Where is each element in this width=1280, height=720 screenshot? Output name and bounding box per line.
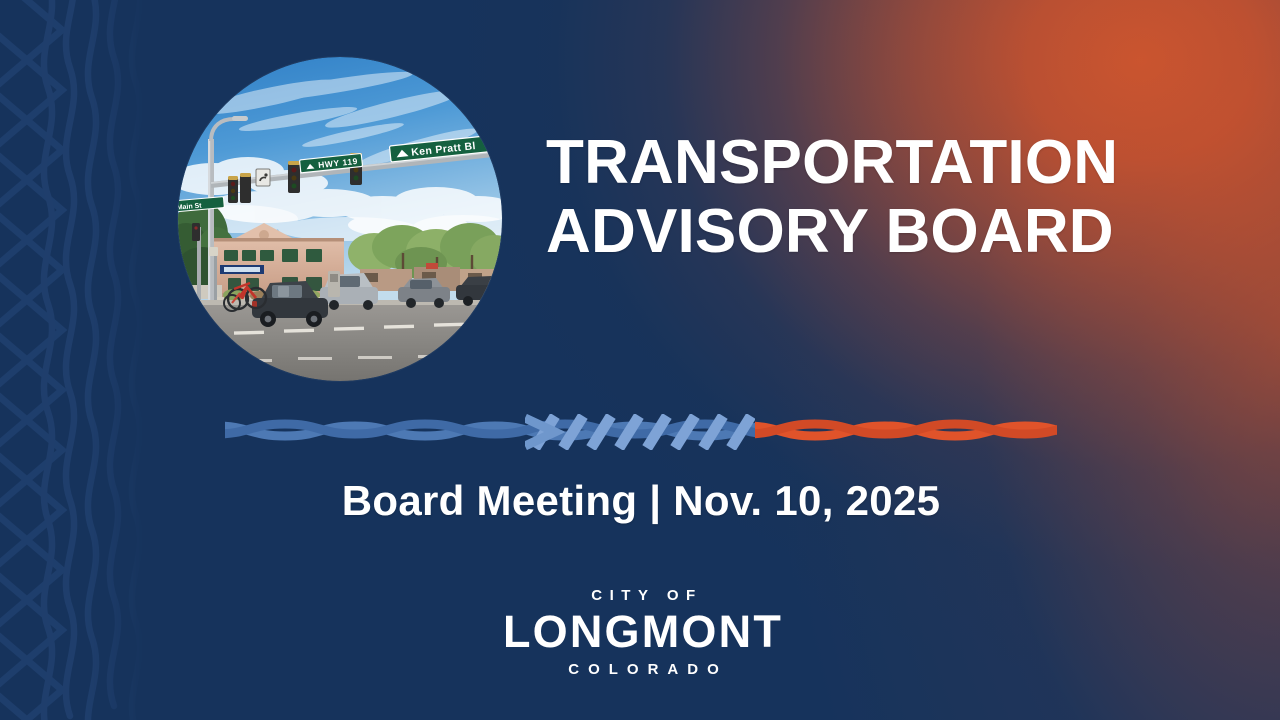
title-line-1: TRANSPORTATION: [546, 128, 1246, 197]
title-line-2: ADVISORY BOARD: [546, 197, 1246, 266]
logo-longmont-text: LONGMONT: [6, 608, 1280, 657]
decorative-divider: [225, 414, 1057, 450]
logo-colorado-text: COLORADO: [6, 662, 1280, 677]
logo-city-of-text: CITY OF: [6, 588, 1280, 603]
title-slide: HWY 119 Ken Pratt Bl S Main St: [0, 0, 1280, 720]
slide-title: TRANSPORTATION ADVISORY BOARD: [546, 128, 1246, 267]
city-logo: CITY OF LONGMONT COLORADO: [0, 588, 1280, 677]
meeting-subtitle: Board Meeting | Nov. 10, 2025: [0, 477, 1280, 525]
intersection-photo: HWY 119 Ken Pratt Bl S Main St: [178, 57, 502, 381]
